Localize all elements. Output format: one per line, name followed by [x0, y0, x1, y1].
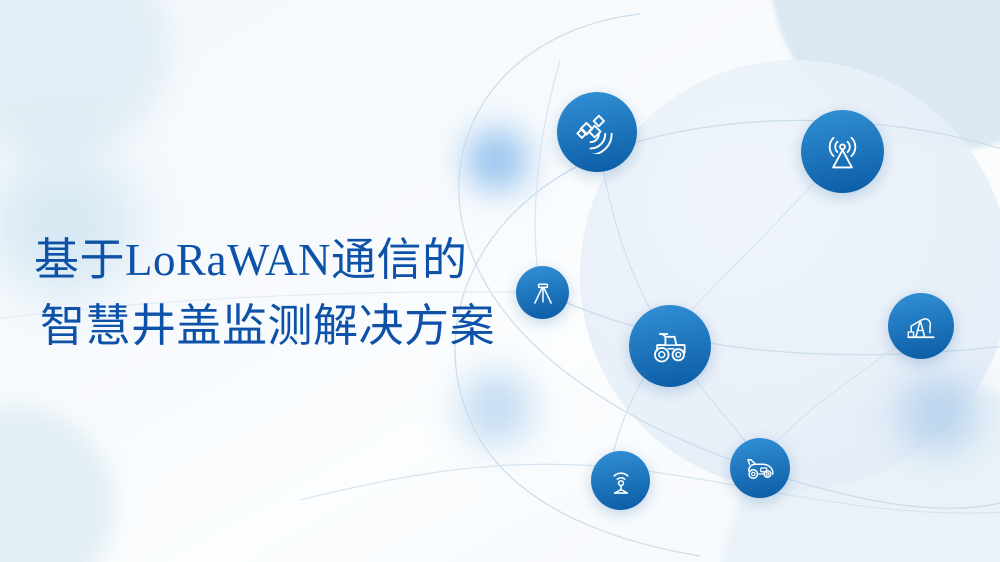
node-radio-tower[interactable] [801, 110, 884, 193]
title-line-2: 智慧井盖监测解决方案 [34, 294, 554, 360]
title-slide: 基于LoRaWAN通信的 智慧井盖监测解决方案 [0, 0, 1000, 562]
page-title: 基于LoRaWAN通信的 智慧井盖监测解决方案 [34, 228, 554, 359]
oil-pumpjack-icon [903, 308, 939, 344]
node-wireless-sensor[interactable] [591, 451, 650, 510]
survey-tripod-icon [528, 278, 558, 308]
tractor-icon [648, 324, 692, 368]
node-survey-tripod[interactable] [516, 266, 569, 319]
satellite-icon [575, 110, 619, 154]
wireless-sensor-icon [604, 464, 638, 498]
node-satellite[interactable] [557, 92, 637, 172]
node-harvester[interactable] [730, 438, 790, 498]
radio-tower-icon [820, 129, 865, 174]
node-oil-pumpjack[interactable] [888, 293, 954, 359]
title-line-1: 基于LoRaWAN通信的 [34, 228, 554, 294]
harvester-icon [742, 450, 778, 486]
node-tractor[interactable] [629, 305, 711, 387]
